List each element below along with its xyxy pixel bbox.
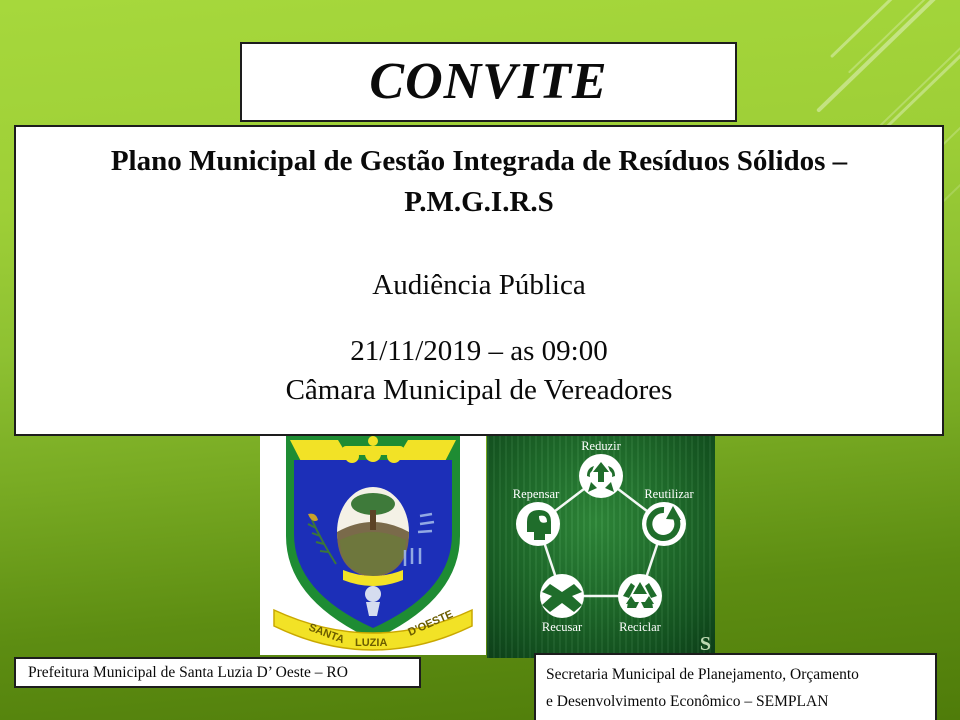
- footer-left-text: Prefeitura Municipal de Santa Luzia D’ O…: [16, 664, 348, 682]
- recycling-5r-image: Reduzir Reutilizar Repensar Recusar: [487, 424, 715, 658]
- footer-right-line2: e Desenvolvimento Econômico – SEMPLAN: [546, 688, 935, 715]
- label-reutilizar: Reutilizar: [644, 487, 694, 501]
- coat-of-arms-image: SANTA LUZIA D'OESTE: [260, 424, 486, 655]
- convite-title-box: CONVITE: [240, 42, 737, 122]
- hearing-type-text: Audiência Pública: [42, 223, 916, 302]
- coat-of-arms-svg: SANTA LUZIA D'OESTE: [260, 424, 486, 655]
- ribbon-text-center: LUZIA: [355, 637, 387, 649]
- label-reduzir: Reduzir: [581, 439, 621, 453]
- label-reciclar: Reciclar: [619, 620, 661, 634]
- label-recusar: Recusar: [542, 620, 583, 634]
- event-datetime-text: 21/11/2019 – as 09:00: [42, 302, 916, 370]
- recycling-diagram-svg: Reduzir Reutilizar Repensar Recusar: [487, 424, 715, 658]
- footer-right-line1: Secretaria Municipal de Planejamento, Or…: [546, 661, 935, 688]
- plan-title-text: Plano Municipal de Gestão Integrada de R…: [42, 141, 916, 223]
- convite-title-text: CONVITE: [369, 56, 607, 108]
- footer-right-box: Secretaria Municipal de Planejamento, Or…: [534, 653, 937, 720]
- presentation-slide: SANTA LUZIA D'OESTE: [0, 0, 960, 720]
- event-venue-text: Câmara Municipal de Vereadores: [42, 371, 916, 409]
- label-repensar: Repensar: [513, 487, 560, 501]
- footer-left-box: Prefeitura Municipal de Santa Luzia D’ O…: [14, 657, 421, 688]
- main-content-box: Plano Municipal de Gestão Integrada de R…: [14, 125, 944, 436]
